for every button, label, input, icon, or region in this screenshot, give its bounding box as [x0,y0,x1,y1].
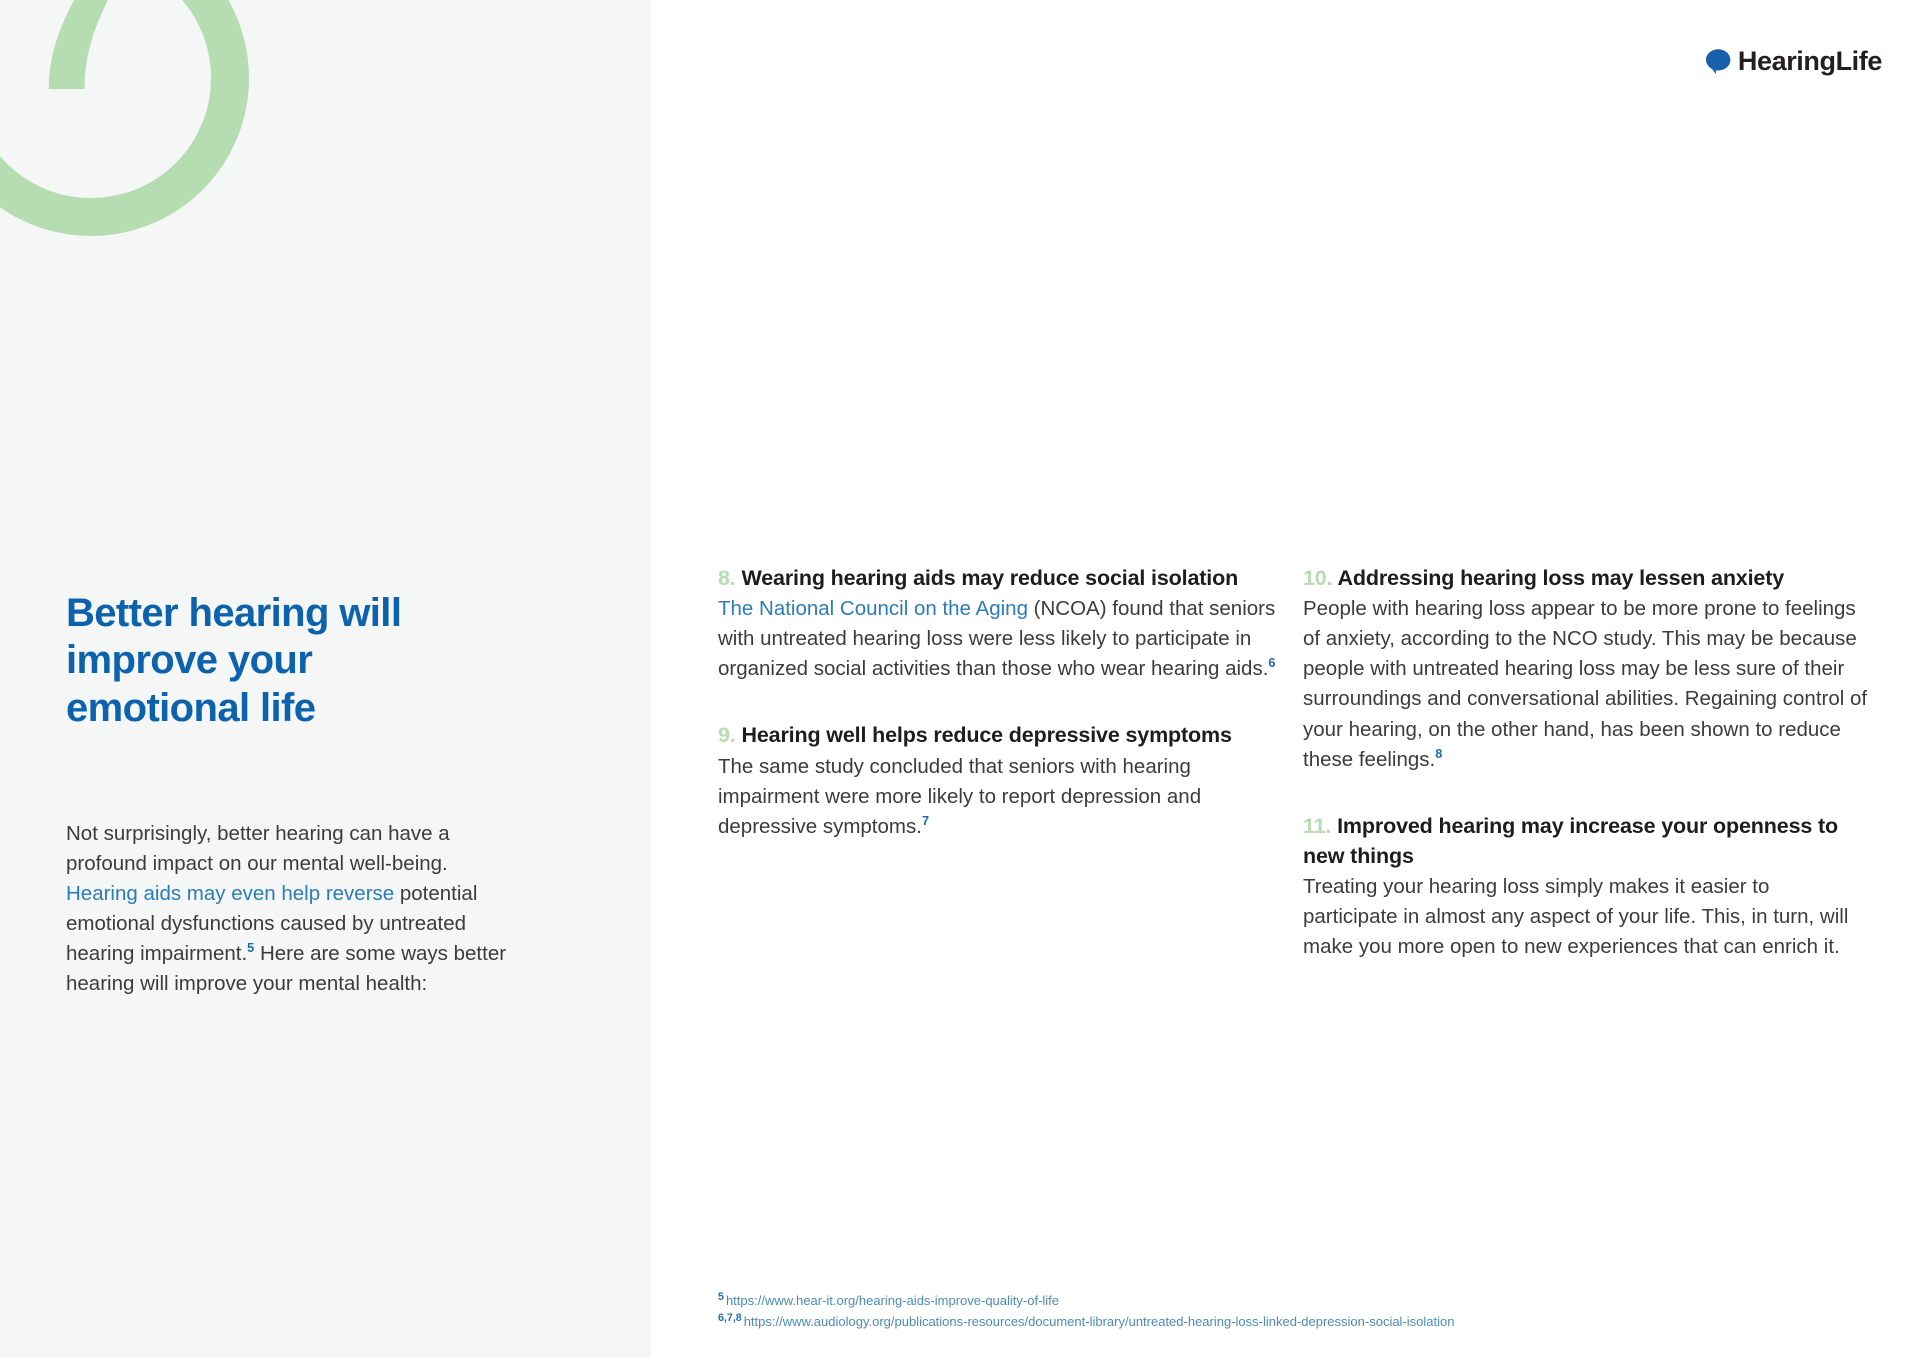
block-heading-text-10: Addressing hearing loss may lessen anxie… [1337,566,1784,590]
block-body-11: Treating your hearing loss simply makes … [1303,872,1868,962]
footnote-url-5[interactable]: https://www.hear-it.org/hearing-aids-imp… [726,1293,1059,1308]
content-column-middle: 8. Wearing hearing aids may reduce socia… [718,563,1278,842]
footnote-marker-5: 5 [718,1291,724,1303]
footnote-ref-8[interactable]: 8 [1435,746,1442,761]
block-number-8: 8. [718,566,736,590]
block-heading-8: 8. Wearing hearing aids may reduce socia… [718,563,1278,593]
block-heading-9: 9. Hearing well helps reduce depressive … [718,720,1278,750]
footnote-ref-7[interactable]: 7 [922,813,929,828]
footnote-item-5: 5https://www.hear-it.org/hearing-aids-im… [718,1290,1454,1311]
footnote-ref-6[interactable]: 6 [1268,656,1275,671]
footnote-url-678[interactable]: https://www.audiology.org/publications-r… [744,1314,1455,1329]
block-heading-text-9: Hearing well helps reduce depressive sym… [741,723,1231,747]
block-body-text-9: The same study concluded that seniors wi… [718,755,1201,838]
content-block-11: 11. Improved hearing may increase your o… [1303,811,1868,963]
block-number-11: 11. [1303,814,1331,838]
block-number-9: 9. [718,723,736,747]
page-number-glyph: 7 [13,0,146,128]
brand-name: HearingLife [1738,48,1882,75]
content-block-10: 10. Addressing hearing loss may lessen a… [1303,563,1868,775]
decorative-page-number: 7 [0,0,333,320]
footnotes: 5https://www.hear-it.org/hearing-aids-im… [718,1290,1454,1332]
intro-link[interactable]: Hearing aids may even help reverse [66,882,394,905]
block-number-10: 10. [1303,566,1332,590]
block-heading-text-8: Wearing hearing aids may reduce social i… [741,566,1238,590]
intro-paragraph: Not surprisingly, better hearing can hav… [66,819,516,1000]
speech-bubble-icon [1705,48,1732,75]
left-panel: 7 Better hearing will improve your emoti… [0,0,651,1358]
footnote-item-678: 6,7,8https://www.audiology.org/publicati… [718,1311,1454,1332]
content-column-right: 10. Addressing hearing loss may lessen a… [1303,563,1868,962]
brand-logo: HearingLife [1705,48,1882,75]
block-body-text-11: Treating your hearing loss simply makes … [1303,875,1848,958]
block-body-10: People with hearing loss appear to be mo… [1303,594,1868,775]
content-block-9: 9. Hearing well helps reduce depressive … [718,720,1278,841]
block-body-8: The National Council on the Aging (NCOA)… [718,594,1278,684]
footnote-marker-678: 6,7,8 [718,1312,742,1324]
block-body-text-10: People with hearing loss appear to be mo… [1303,597,1867,771]
page-title: Better hearing will improve your emotion… [66,590,506,733]
content-block-8: 8. Wearing hearing aids may reduce socia… [718,563,1278,684]
block-heading-10: 10. Addressing hearing loss may lessen a… [1303,563,1868,593]
block-heading-text-11: Improved hearing may increase your openn… [1303,814,1838,868]
block-heading-11: 11. Improved hearing may increase your o… [1303,811,1868,871]
block-body-9: The same study concluded that seniors wi… [718,752,1278,842]
intro-text-part1: Not surprisingly, better hearing can hav… [66,822,450,875]
ncoa-link[interactable]: The National Council on the Aging [718,597,1028,620]
